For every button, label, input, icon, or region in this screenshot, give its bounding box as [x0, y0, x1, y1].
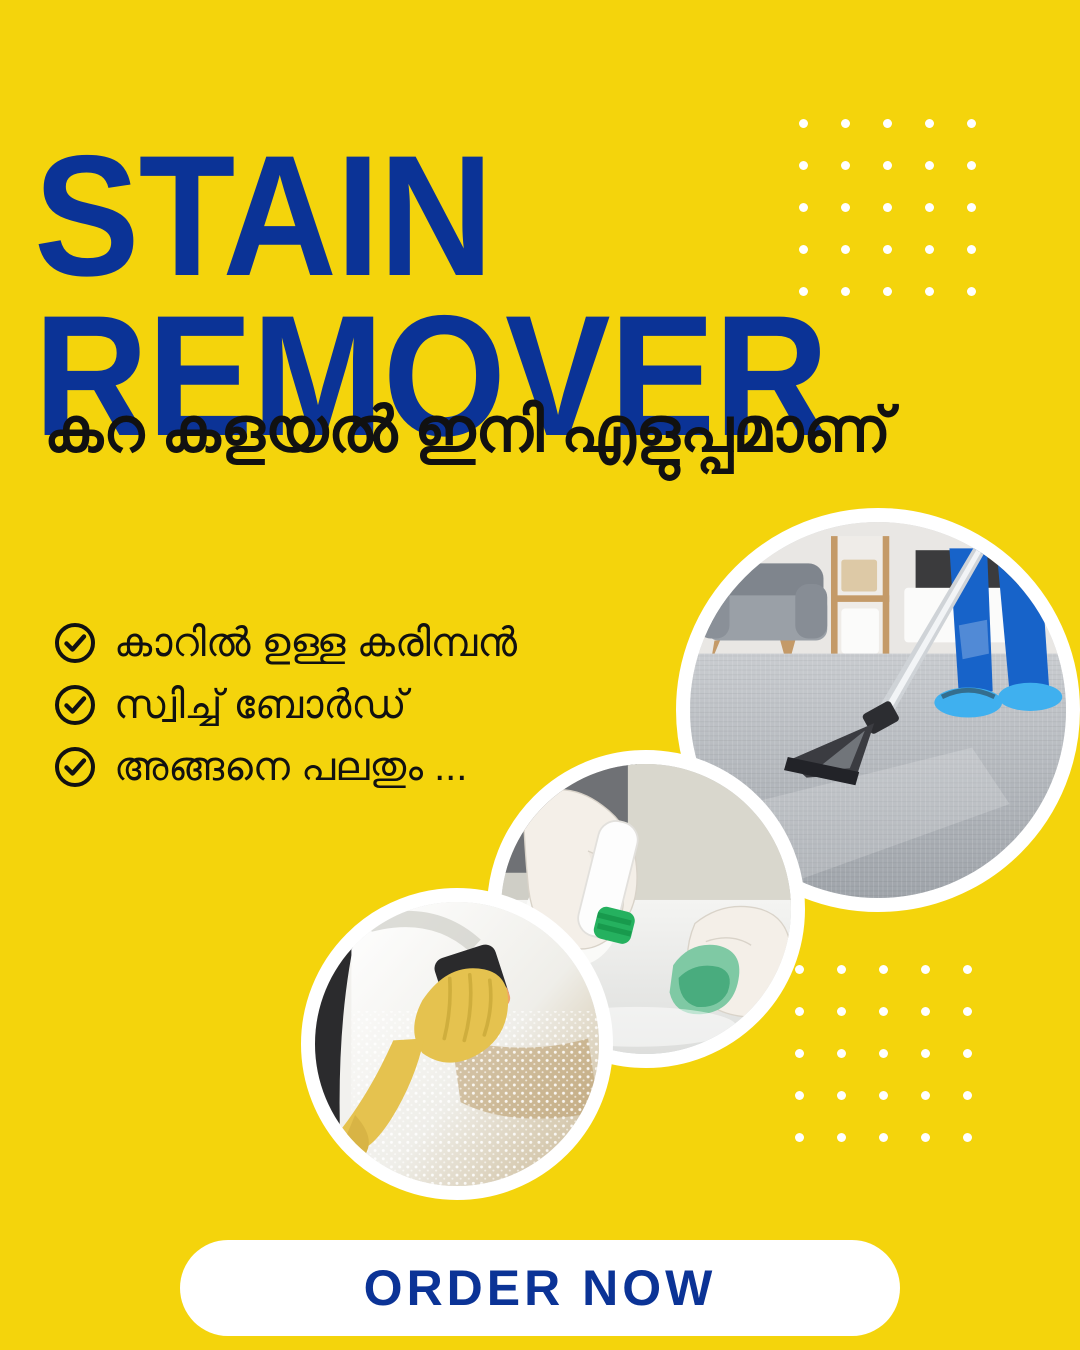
- decorative-dot: [795, 1133, 804, 1142]
- decorative-dot: [925, 119, 934, 128]
- decorative-dot: [963, 1049, 972, 1058]
- decorative-dot: [799, 119, 808, 128]
- subtitle: കറ കളയൽ ഇനി എളുപ്പമാണ്: [44, 400, 891, 462]
- decorative-dot: [883, 161, 892, 170]
- decorative-dot: [963, 1007, 972, 1016]
- decorative-dot: [837, 1133, 846, 1142]
- decorative-dot: [837, 1091, 846, 1100]
- dot-grid-top-right: [799, 119, 1019, 299]
- decorative-dot: [925, 287, 934, 296]
- decorative-dot: [921, 1007, 930, 1016]
- decorative-dot: [925, 161, 934, 170]
- decorative-dot: [883, 245, 892, 254]
- decorative-dot: [967, 119, 976, 128]
- scrub-cleaning-photo: [301, 888, 613, 1200]
- decorative-dot: [921, 1091, 930, 1100]
- decorative-dot: [795, 1007, 804, 1016]
- decorative-dot: [841, 161, 850, 170]
- decorative-dot: [795, 1049, 804, 1058]
- check-circle-icon: [54, 622, 96, 664]
- feature-label: അങ്ങനെ പലതും ...: [114, 746, 467, 788]
- dot-grid-bottom-right: [795, 965, 1025, 1155]
- decorative-dot: [921, 1133, 930, 1142]
- list-item: കാറിൽ ഉള്ള കരിമ്പൻ: [54, 622, 517, 664]
- check-circle-icon: [54, 684, 96, 726]
- decorative-dot: [883, 287, 892, 296]
- decorative-dot: [921, 965, 930, 974]
- decorative-dot: [837, 965, 846, 974]
- decorative-dot: [883, 203, 892, 212]
- decorative-dot: [841, 245, 850, 254]
- decorative-dot: [841, 203, 850, 212]
- decorative-dot: [879, 1091, 888, 1100]
- decorative-dot: [883, 119, 892, 128]
- decorative-dot: [795, 965, 804, 974]
- decorative-dot: [925, 203, 934, 212]
- decorative-dot: [963, 965, 972, 974]
- decorative-dot: [837, 1049, 846, 1058]
- decorative-dot: [921, 1049, 930, 1058]
- feature-label: കാറിൽ ഉള്ള കരിമ്പൻ: [114, 622, 517, 664]
- decorative-dot: [967, 203, 976, 212]
- decorative-dot: [925, 245, 934, 254]
- decorative-dot: [841, 119, 850, 128]
- decorative-dot: [967, 245, 976, 254]
- order-now-label: ORDER NOW: [364, 1263, 717, 1313]
- decorative-dot: [963, 1091, 972, 1100]
- headline-line-1: STAIN: [34, 137, 828, 297]
- decorative-dot: [795, 1091, 804, 1100]
- feature-label: സ്വിച്ച് ബോർഡ്: [114, 684, 407, 726]
- decorative-dot: [879, 965, 888, 974]
- order-now-button[interactable]: ORDER NOW: [180, 1240, 900, 1336]
- decorative-dot: [879, 1007, 888, 1016]
- decorative-dot: [963, 1133, 972, 1142]
- decorative-dot: [841, 287, 850, 296]
- decorative-dot: [967, 287, 976, 296]
- decorative-dot: [879, 1133, 888, 1142]
- list-item: അങ്ങനെ പലതും ...: [54, 746, 517, 788]
- list-item: സ്വിച്ച് ബോർഡ്: [54, 684, 517, 726]
- poster-canvas: STAINREMOVER കറ കളയൽ ഇനി എളുപ്പമാണ് കാറി…: [0, 0, 1080, 1350]
- decorative-dot: [837, 1007, 846, 1016]
- feature-list: കാറിൽ ഉള്ള കരിമ്പൻ സ്വിച്ച് ബോർഡ് അങ്ങനെ…: [54, 622, 517, 788]
- check-circle-icon: [54, 746, 96, 788]
- decorative-dot: [879, 1049, 888, 1058]
- decorative-dot: [967, 161, 976, 170]
